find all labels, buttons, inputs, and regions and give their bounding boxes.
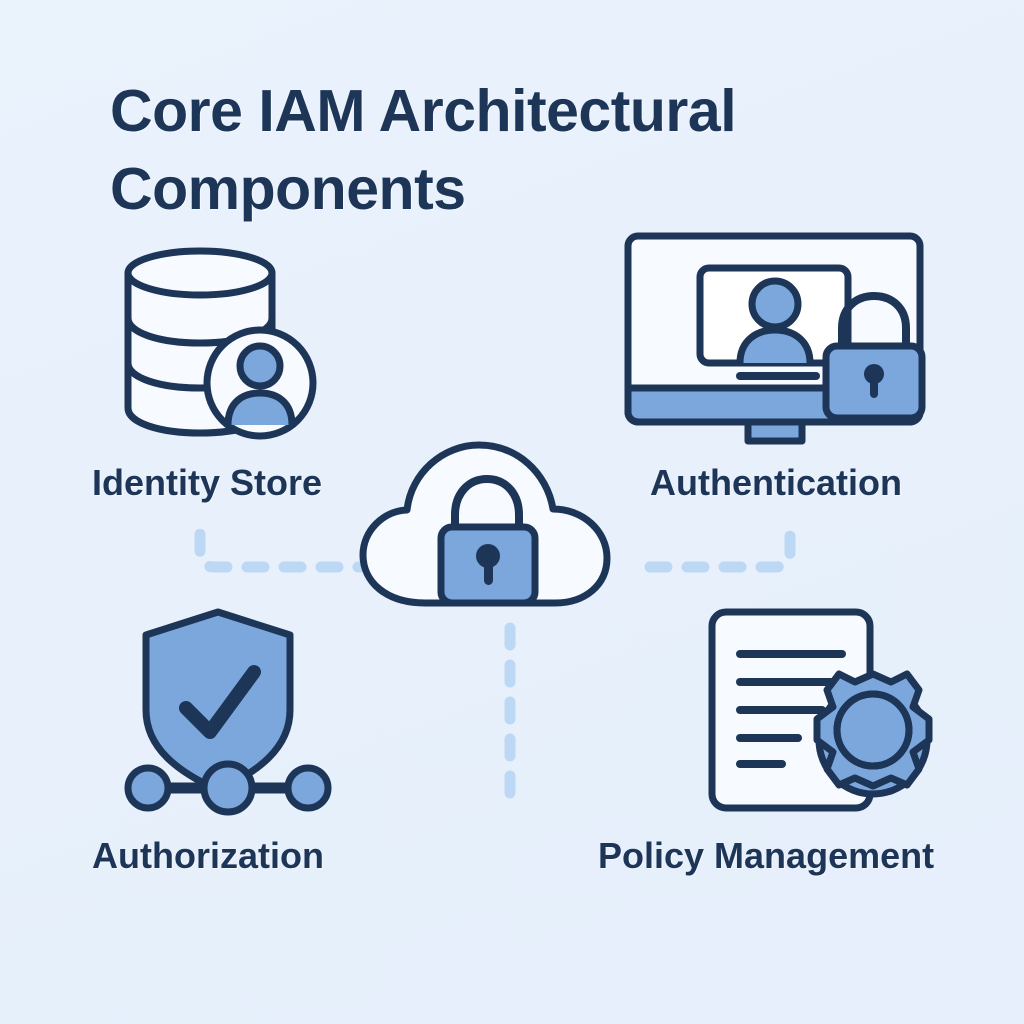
diagram-canvas: Core IAM Architectural Components — [0, 0, 1024, 1024]
label-policy-management: Policy Management — [598, 835, 934, 877]
identity-store-icon-group — [120, 243, 350, 443]
cloud-lock-icon — [363, 445, 607, 603]
label-authorization: Authorization — [92, 835, 324, 877]
authentication-icon-group — [620, 228, 935, 443]
monitor-user-lock-icon — [628, 236, 922, 441]
document-gear-icon — [712, 612, 929, 808]
database-user-icon — [128, 251, 313, 436]
label-authentication: Authentication — [650, 462, 902, 504]
center-cloud-lock-group — [355, 425, 655, 630]
connector-right — [650, 528, 790, 567]
authorization-icon-group — [118, 600, 343, 820]
shield-check-nodes-icon — [128, 612, 328, 812]
policy-management-icon-group — [700, 600, 935, 835]
connector-left — [200, 528, 375, 567]
label-identity-store: Identity Store — [92, 462, 322, 504]
